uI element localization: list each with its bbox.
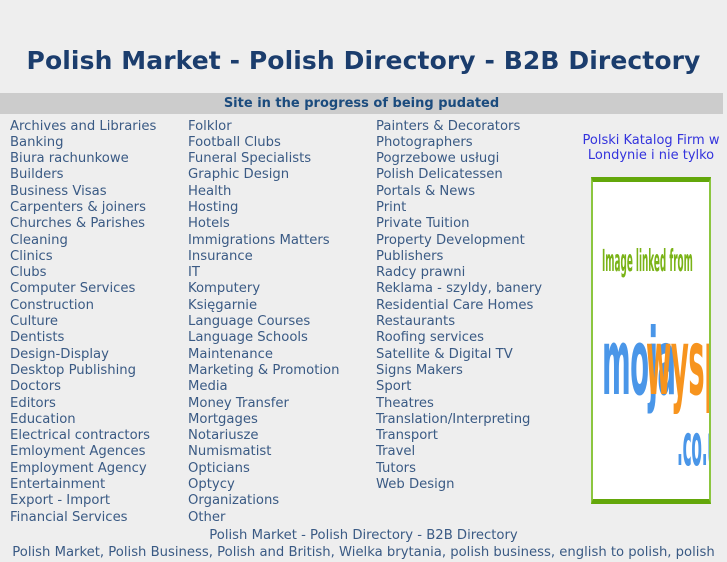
directory-link[interactable]: Funeral Specialists: [188, 151, 376, 167]
directory-link[interactable]: Biura rachunkowe: [10, 151, 188, 167]
footer: Polish Market - Polish Directory - B2B D…: [0, 527, 727, 562]
directory-link[interactable]: Roofing services: [376, 330, 576, 346]
directory-link[interactable]: Immigrations Matters: [188, 233, 376, 249]
directory-link[interactable]: Optycy: [188, 477, 376, 493]
directory-link[interactable]: Builders: [10, 167, 188, 183]
directory-link[interactable]: Opticians: [188, 461, 376, 477]
footer-keywords: Polish Market, Polish Business, Polish a…: [0, 544, 727, 562]
logo-text-domain: .co.uk: [677, 411, 711, 479]
directory-column-3: Painters & DecoratorsPhotographersPogrze…: [376, 119, 576, 494]
promo-panel: Polski Katalog Firm w Londynie i nie tyl…: [576, 119, 726, 504]
directory-link[interactable]: Folklor: [188, 119, 376, 135]
directory-link[interactable]: Archives and Libraries: [10, 119, 188, 135]
directory-link[interactable]: Banking: [10, 135, 188, 151]
directory-link[interactable]: Language Courses: [188, 314, 376, 330]
directory-link[interactable]: Emloyment Agences: [10, 444, 188, 460]
directory-link[interactable]: Restaurants: [376, 314, 576, 330]
directory-link[interactable]: Numismatist: [188, 444, 376, 460]
directory-column-2: FolklorFootball ClubsFuneral Specialists…: [188, 119, 376, 526]
directory-link[interactable]: Clinics: [10, 249, 188, 265]
site-notice-banner: Site in the progress of being pudated: [0, 93, 723, 114]
directory-link[interactable]: Business Visas: [10, 184, 188, 200]
promo-banner-image[interactable]: Image linked from moja wyspa .co.uk: [591, 177, 711, 504]
directory-link[interactable]: Web Design: [376, 477, 576, 493]
directory-link[interactable]: Graphic Design: [188, 167, 376, 183]
directory-link[interactable]: Notariusze: [188, 428, 376, 444]
directory-link[interactable]: Reklama - szyldy, banery: [376, 281, 576, 297]
directory-link[interactable]: Pogrzebowe usługi: [376, 151, 576, 167]
directory-link[interactable]: Health: [188, 184, 376, 200]
site-notice-text: Site in the progress of being pudated: [224, 96, 499, 111]
directory-link[interactable]: Publishers: [376, 249, 576, 265]
directory-link[interactable]: Money Transfer: [188, 396, 376, 412]
directory-link[interactable]: IT: [188, 265, 376, 281]
directory-link[interactable]: Construction: [10, 298, 188, 314]
directory-content: Archives and LibrariesBankingBiura rachu…: [0, 114, 727, 526]
directory-link[interactable]: Satellite & Digital TV: [376, 347, 576, 363]
directory-link[interactable]: Property Development: [376, 233, 576, 249]
directory-link[interactable]: Translation/Interpreting: [376, 412, 576, 428]
directory-link[interactable]: Cleaning: [10, 233, 188, 249]
directory-link[interactable]: Culture: [10, 314, 188, 330]
directory-link[interactable]: Employment Agency: [10, 461, 188, 477]
directory-link[interactable]: Print: [376, 200, 576, 216]
directory-link[interactable]: Polish Delicatessen: [376, 167, 576, 183]
directory-link[interactable]: Tutors: [376, 461, 576, 477]
directory-link[interactable]: Maintenance: [188, 347, 376, 363]
directory-link[interactable]: Photographers: [376, 135, 576, 151]
directory-link[interactable]: Księgarnie: [188, 298, 376, 314]
directory-link[interactable]: Football Clubs: [188, 135, 376, 151]
directory-link[interactable]: Design-Display: [10, 347, 188, 363]
directory-link[interactable]: Theatres: [376, 396, 576, 412]
directory-link[interactable]: Mortgages: [188, 412, 376, 428]
directory-link[interactable]: Churches & Parishes: [10, 216, 188, 232]
directory-link[interactable]: Residential Care Homes: [376, 298, 576, 314]
directory-link[interactable]: Travel: [376, 444, 576, 460]
promo-heading: Polski Katalog Firm w Londynie i nie tyl…: [576, 133, 726, 164]
directory-link[interactable]: Organizations: [188, 493, 376, 509]
directory-link[interactable]: Marketing & Promotion: [188, 363, 376, 379]
directory-link[interactable]: Hosting: [188, 200, 376, 216]
directory-link[interactable]: Education: [10, 412, 188, 428]
directory-link[interactable]: Language Schools: [188, 330, 376, 346]
directory-link[interactable]: Editors: [10, 396, 188, 412]
directory-link[interactable]: Doctors: [10, 379, 188, 395]
directory-link[interactable]: Clubs: [10, 265, 188, 281]
directory-link[interactable]: Media: [188, 379, 376, 395]
directory-link[interactable]: Painters & Decorators: [376, 119, 576, 135]
directory-link[interactable]: Sport: [376, 379, 576, 395]
footer-title-link[interactable]: Polish Market - Polish Directory - B2B D…: [0, 527, 727, 544]
directory-link[interactable]: Signs Makers: [376, 363, 576, 379]
directory-link[interactable]: Radcy prawni: [376, 265, 576, 281]
directory-link[interactable]: Electrical contractors: [10, 428, 188, 444]
directory-link[interactable]: Other: [188, 510, 376, 526]
page-title: Polish Market - Polish Directory - B2B D…: [0, 17, 727, 76]
directory-link[interactable]: Portals & News: [376, 184, 576, 200]
directory-column-1: Archives and LibrariesBankingBiura rachu…: [0, 119, 188, 526]
logo-text-wyspa: wyspa: [646, 309, 711, 416]
directory-link[interactable]: Hotels: [188, 216, 376, 232]
directory-link[interactable]: Entertainment: [10, 477, 188, 493]
broken-image-placeholder-text: Image linked from: [602, 244, 693, 279]
directory-link[interactable]: Financial Services: [10, 510, 188, 526]
directory-link[interactable]: Desktop Publishing: [10, 363, 188, 379]
directory-link[interactable]: Computer Services: [10, 281, 188, 297]
directory-link[interactable]: Insurance: [188, 249, 376, 265]
directory-link[interactable]: Transport: [376, 428, 576, 444]
directory-link[interactable]: Export - Import: [10, 493, 188, 509]
directory-link[interactable]: Komputery: [188, 281, 376, 297]
directory-link[interactable]: Carpenters & joiners: [10, 200, 188, 216]
directory-link[interactable]: Dentists: [10, 330, 188, 346]
directory-link[interactable]: Private Tuition: [376, 216, 576, 232]
